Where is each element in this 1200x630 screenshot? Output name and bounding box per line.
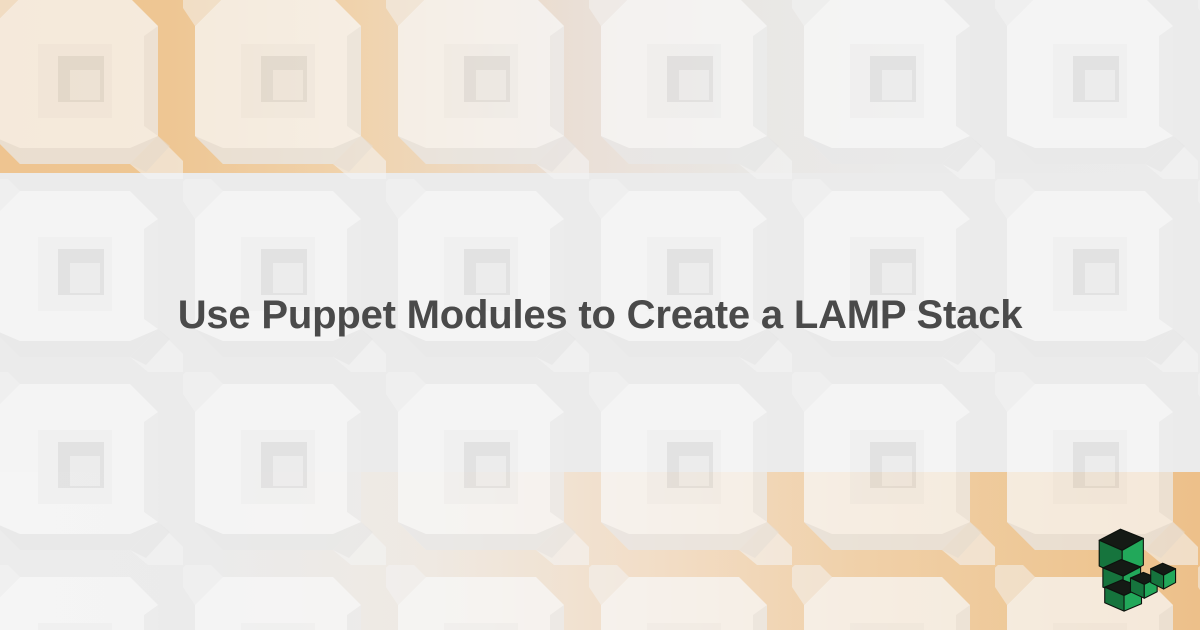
puppet-cubes-logo xyxy=(1090,520,1182,612)
page-title: Use Puppet Modules to Create a LAMP Stac… xyxy=(118,293,1083,337)
title-container: Use Puppet Modules to Create a LAMP Stac… xyxy=(0,0,1200,630)
social-card: Use Puppet Modules to Create a LAMP Stac… xyxy=(0,0,1200,630)
